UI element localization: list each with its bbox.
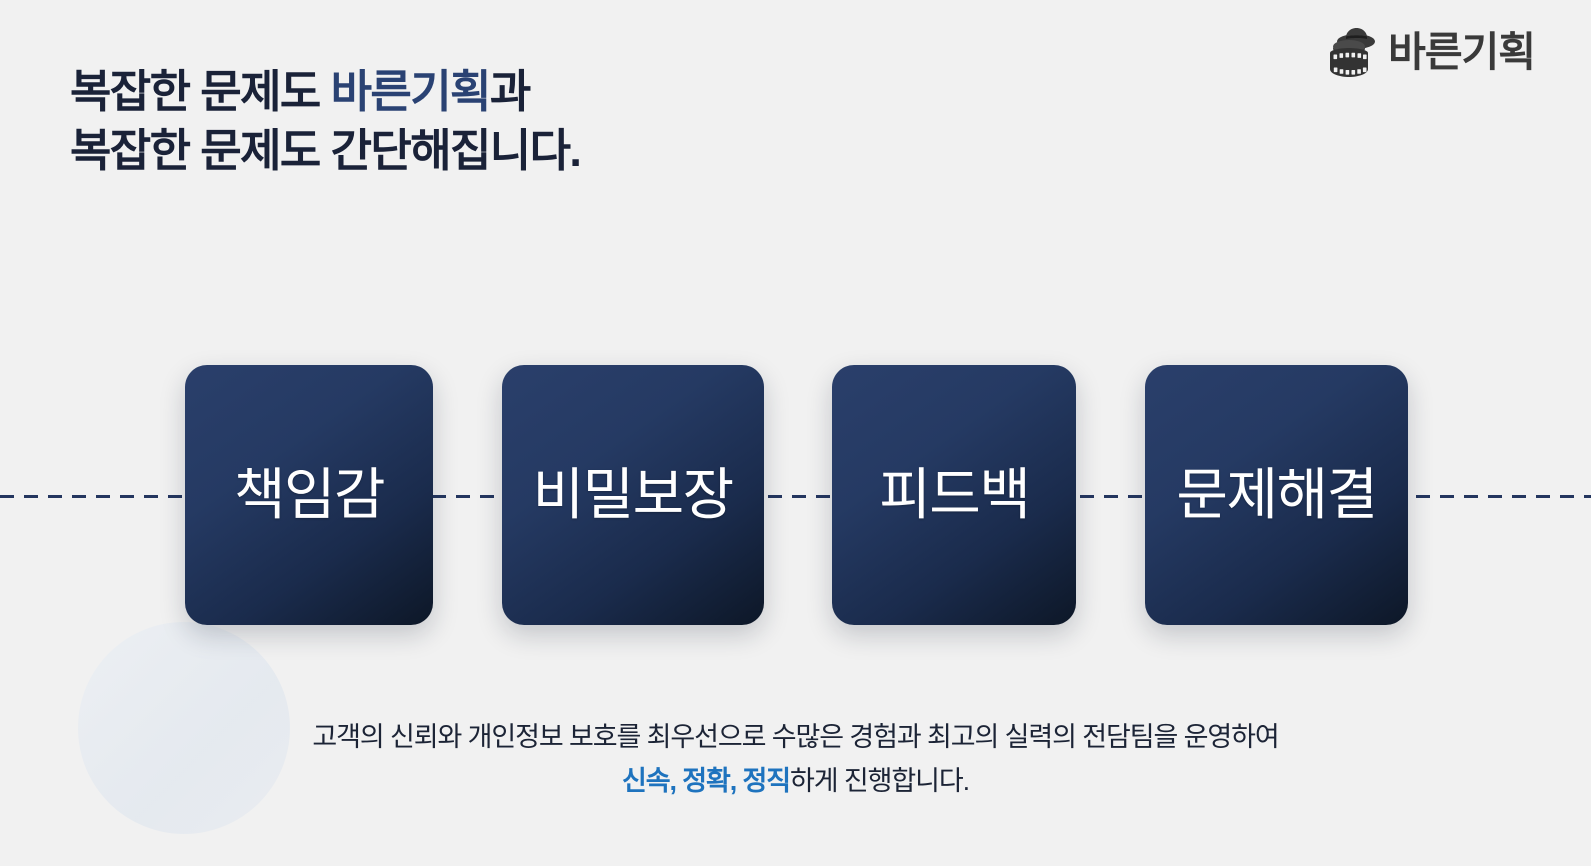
value-card-label: 비밀보장: [533, 467, 733, 523]
caption-block: 고객의 신뢰와 개인정보 보호를 최우선으로 수많은 경험과 최고의 실력의 전…: [0, 716, 1591, 803]
value-cards-row: 책임감 비밀보장 피드백 문제해결: [185, 365, 1408, 625]
headline-line-1: 복잡한 문제도 바른기획과: [70, 62, 580, 121]
value-card-confidentiality[interactable]: 비밀보장: [502, 365, 764, 625]
headline-line-1-suffix: 과: [490, 66, 530, 117]
caption-line-2: 신속, 정확, 정직하게 진행합니다.: [0, 760, 1591, 804]
value-card-label: 문제해결: [1176, 467, 1376, 523]
brand-logo-text: 바른기획: [1388, 32, 1535, 73]
value-card-responsibility[interactable]: 책임감: [185, 365, 433, 625]
film-reel-fedora-hat-icon: [1318, 24, 1376, 80]
caption-line-1: 고객의 신뢰와 개인정보 보호를 최우선으로 수많은 경험과 최고의 실력의 전…: [0, 716, 1591, 760]
caption-line-2-suffix: 하게 진행합니다.: [790, 766, 969, 796]
value-card-problem-solving[interactable]: 문제해결: [1145, 365, 1408, 625]
value-card-label: 책임감: [234, 467, 384, 523]
headline: 복잡한 문제도 바른기획과 복잡한 문제도 간단해집니다.: [70, 62, 580, 181]
brand-logo[interactable]: 바른기획: [1318, 24, 1535, 80]
value-card-feedback[interactable]: 피드백: [832, 365, 1076, 625]
caption-accent-text: 신속, 정확, 정직: [622, 766, 790, 796]
headline-line-2: 복잡한 문제도 간단해집니다.: [70, 121, 580, 180]
headline-brand-accent: 바른기획: [331, 66, 490, 117]
value-card-label: 피드백: [879, 467, 1029, 523]
headline-line-1-prefix: 복잡한 문제도: [70, 66, 331, 117]
slide-root: 바른기획 복잡한 문제도 바른기획과 복잡한 문제도 간단해집니다. 책임감 비…: [0, 0, 1591, 866]
